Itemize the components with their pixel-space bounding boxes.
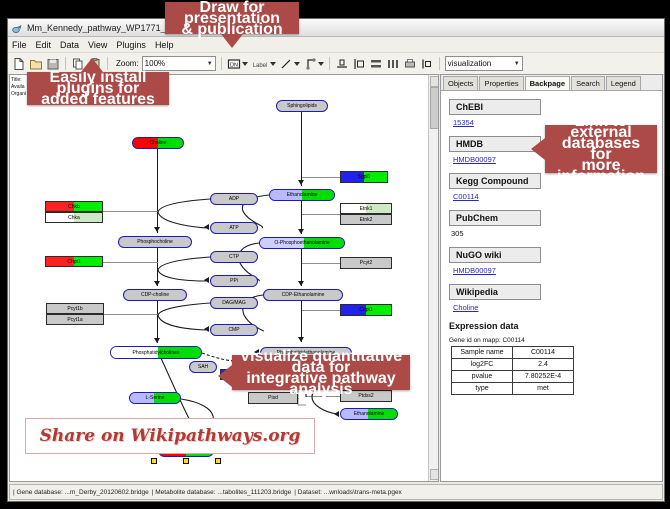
callout-share: Share on Wikipathways.org <box>25 418 315 454</box>
tab-legend[interactable]: Legend <box>606 76 641 90</box>
tab-objects[interactable]: Objects <box>443 76 478 90</box>
callout-plugins-text: Easily install plugins for added feature… <box>27 69 169 108</box>
callout-plugins: Easily install plugins for added feature… <box>27 72 169 105</box>
menu-edit[interactable]: Edit <box>36 40 52 50</box>
visualization-combo[interactable]: visualization ▼ <box>445 56 523 71</box>
db-section-title: Kegg Compound <box>449 173 541 189</box>
menu-help[interactable]: Help <box>155 40 174 50</box>
expression-row: pvalue7.80252E-4 <box>452 371 574 383</box>
callout-draw-line2: & publication <box>171 24 293 35</box>
chevron-down-icon: ▼ <box>207 61 213 67</box>
scroll-thumb[interactable] <box>430 87 439 129</box>
zoom-value: 100% <box>145 59 165 68</box>
visualization-value: visualization <box>448 59 492 68</box>
metabolite-node-cmp[interactable]: CMP <box>210 324 258 336</box>
gene-node-etnk2[interactable]: Etnk2 <box>340 214 392 225</box>
resize-handle[interactable] <box>215 458 221 464</box>
callout-links: Link to external databases for more info… <box>545 125 657 173</box>
metabolite-node-choline-top[interactable]: Choline <box>132 137 184 149</box>
callout-plugins-pointer <box>81 58 103 72</box>
chevron-down-icon[interactable] <box>242 62 248 66</box>
toolbar-separator <box>221 57 222 70</box>
line-tool[interactable] <box>279 57 300 71</box>
db-section-title: NuGO wiki <box>449 247 541 263</box>
db-section-link[interactable]: HMDB00097 <box>453 266 654 275</box>
callout-links-text: Link to external databases for more info… <box>545 113 657 185</box>
node-label: CDP-choline <box>141 292 169 298</box>
menu-file[interactable]: File <box>12 40 27 50</box>
screenshot-root: Mm_Kennedy_pathway_WP1771_45176.gpml Fil… <box>0 0 670 509</box>
metabolite-node-phosphocholine[interactable]: Phosphocholine <box>118 236 192 248</box>
title-bar: Mm_Kennedy_pathway_WP1771_45176.gpml <box>8 19 664 37</box>
node-label: PPi <box>230 278 238 284</box>
tab-search[interactable]: Search <box>571 76 605 90</box>
gene-node-chpt1[interactable]: Chpt1 <box>45 256 103 267</box>
node-label: L-Serine <box>146 395 165 401</box>
caption-title: Title: <box>11 77 26 84</box>
node-label: Cept1 <box>359 307 372 313</box>
distribute-icon[interactable] <box>386 57 400 71</box>
metabolite-node-sah[interactable]: SAH <box>189 361 217 373</box>
menu-data[interactable]: Data <box>60 40 79 50</box>
db-section-title: HMDB <box>449 136 541 152</box>
tab-backpage[interactable]: Backpage <box>525 76 570 90</box>
arrow-to-cmp <box>204 326 209 332</box>
gene-node-pcyt1a[interactable]: Pcyt1a <box>46 314 104 325</box>
metabolite-node-cdp-ethanol[interactable]: CDP-Ethanolamine <box>263 289 343 301</box>
node-label: Ethanolamine <box>354 411 385 417</box>
gene-node-pcyt1b[interactable]: Pcyt1b <box>46 303 104 314</box>
expression-data-table: Sample nameC00114log2FC2.4pvalue7.80252E… <box>451 346 574 395</box>
gene-id-line: Gene id on mapp: C00114 <box>449 337 654 344</box>
svg-text:Label: Label <box>252 63 267 69</box>
status-metabolite-database: | Metabolite database: ...tabolites_1112… <box>149 489 292 496</box>
callout-visualize: Visualize quantitative data for integrat… <box>232 355 410 390</box>
node-label: ADP <box>229 196 239 202</box>
layer-icon[interactable] <box>420 57 434 71</box>
node-label: CMP <box>228 327 239 333</box>
gene-node-sgpl1[interactable]: Sgpl1 <box>340 171 388 183</box>
resize-handle[interactable] <box>183 458 189 464</box>
scroll-down-arrow[interactable] <box>430 469 439 480</box>
callout-links-pointer <box>531 138 545 160</box>
expression-value: 7.80252E-4 <box>513 371 574 383</box>
status-gene-database: | Gene database: ...m_Derby_20120602.bri… <box>10 489 149 496</box>
callout-share-text: Share on Wikipathways.org <box>40 426 301 446</box>
db-section-value: 305 <box>451 229 654 238</box>
label-icon[interactable]: Label <box>251 57 269 71</box>
metabolite-node-dagmag[interactable]: DAG/MAG <box>210 297 258 309</box>
tab-properties[interactable]: Properties <box>479 76 523 90</box>
node-label: Chkb <box>68 204 80 210</box>
arrow-to-atp <box>204 224 209 230</box>
app-icon <box>12 22 23 33</box>
expression-key: pvalue <box>452 371 513 383</box>
metabolite-node-cdp-choline[interactable]: CDP-choline <box>123 289 187 301</box>
node-label: Sphingolipids <box>287 103 317 109</box>
metabolite-node-ethanolamine-t[interactable]: Ethanolamine <box>269 189 335 201</box>
gene-node-chkb[interactable]: Chkb <box>45 201 103 212</box>
menu-plugins[interactable]: Plugins <box>116 40 146 50</box>
node-label: Phosphocholine <box>137 239 173 245</box>
caption-availa: Availa <box>11 84 26 91</box>
node-label: O-Phosphoethanolamine <box>274 240 329 246</box>
order-icon[interactable] <box>369 57 383 71</box>
menu-bar: File Edit Data View Plugins Help <box>8 37 664 53</box>
metabolite-node-lserine-left[interactable]: L-Serine <box>129 392 181 404</box>
db-section-nugo-wiki: NuGO wikiHMDB00097 <box>449 245 654 275</box>
node-label: Etnk1 <box>360 206 373 212</box>
chevron-down-icon[interactable] <box>294 62 300 66</box>
chevron-down-icon[interactable] <box>318 62 324 66</box>
zoom-label: Zoom: <box>116 59 139 68</box>
metabolite-node-atp[interactable]: ATP <box>210 222 258 234</box>
gene-node-etnk1[interactable]: Etnk1 <box>340 203 392 214</box>
node-label: Phosphatidylcholines <box>133 350 180 356</box>
metabolite-node-ppi[interactable]: PPi <box>210 275 258 287</box>
gene-node-cept1[interactable]: Cept1 <box>340 304 392 316</box>
node-label: SAH <box>198 364 208 370</box>
group-icon[interactable] <box>352 57 366 71</box>
metabolite-node-sphingolipids[interactable]: Sphingolipids <box>276 100 328 112</box>
callout-visualize-line2: integrative pathway analysis <box>238 373 404 395</box>
metabolite-node-o-phosphoetn[interactable]: O-Phosphoethanolamine <box>259 237 345 249</box>
new-icon[interactable] <box>12 57 26 71</box>
arrow-to-ppi <box>204 277 209 283</box>
metabolite-node-ctp[interactable]: CTP <box>210 251 258 263</box>
metabolite-node-adp[interactable]: ADP <box>210 193 258 205</box>
canvas-vertical-scrollbar[interactable] <box>428 75 438 481</box>
callout-visualize-text: Visualize quantitative data for integrat… <box>232 348 410 398</box>
node-label: Choline <box>150 140 167 146</box>
callout-draw: Draw for presentation & publication <box>165 2 299 34</box>
svg-text:DN: DN <box>230 62 238 68</box>
expression-value: 2.4 <box>513 359 574 371</box>
metabolite-node-ptdcholines[interactable]: Phosphatidylcholines <box>110 346 202 359</box>
callout-links-line3: more information <box>551 160 651 182</box>
gene-node-pcyt2[interactable]: Pcyt2 <box>340 257 392 269</box>
callout-plugins-line2: added features <box>33 94 163 105</box>
side-panel-tabs: Objects Properties Backpage Search Legen… <box>441 75 662 91</box>
scroll-up-arrow[interactable] <box>430 76 439 87</box>
datanode-tool[interactable]: DN <box>227 57 248 71</box>
expression-row: Sample nameC00114 <box>452 347 574 359</box>
node-label: Pcyt1a <box>67 317 82 323</box>
db-section-title: ChEBI <box>449 99 541 115</box>
node-label: Ethanolamine <box>287 192 318 198</box>
expression-value: met <box>513 383 574 395</box>
node-label: CDP-Ethanolamine <box>282 292 325 298</box>
expression-key: Sample name <box>452 347 513 359</box>
db-section-link[interactable]: C00114 <box>453 192 654 201</box>
canvas-side-captions: Title: Availa Organi <box>11 77 26 98</box>
db-section-link[interactable]: Choline <box>453 303 654 312</box>
line-icon[interactable] <box>279 57 293 71</box>
db-section-title: PubChem <box>449 210 541 226</box>
toolbar-separator <box>329 57 330 70</box>
caption-organism: Organi <box>11 91 26 98</box>
expression-row: log2FC2.4 <box>452 359 574 371</box>
label-tool[interactable]: Label <box>251 57 276 71</box>
node-label: DAG/MAG <box>222 300 246 306</box>
metabolite-node-ethanolamine-b[interactable]: Ethanolamine <box>340 408 398 420</box>
anchor-icon[interactable] <box>303 57 317 71</box>
anchor-tool[interactable] <box>303 57 324 71</box>
callout-draw-pointer <box>221 34 243 48</box>
node-label: Pcyt1b <box>67 306 82 312</box>
expression-key: log2FC <box>452 359 513 371</box>
node-label: Chpt1 <box>67 259 80 265</box>
resize-handle[interactable] <box>151 458 157 464</box>
node-label: Chka <box>68 215 80 221</box>
align-icon[interactable] <box>335 57 349 71</box>
expression-key: type <box>452 383 513 395</box>
status-bar: | Gene database: ...m_Derby_20120602.bri… <box>9 484 663 500</box>
db-section-title: Wikipedia <box>449 284 541 300</box>
chevron-down-icon[interactable] <box>270 62 276 66</box>
menu-view[interactable]: View <box>88 40 107 50</box>
expression-value: C00114 <box>513 347 574 359</box>
status-dataset: | Dataset: ...wnloads\trans-meta.pgex <box>291 489 402 496</box>
node-label: Sgpl1 <box>358 174 371 180</box>
expression-row: typemet <box>452 383 574 395</box>
print-icon[interactable] <box>403 57 417 71</box>
node-label: Etnk2 <box>360 217 373 223</box>
node-label: ATP <box>229 225 238 231</box>
node-label: Pcyt2 <box>360 260 373 266</box>
expression-data-heading: Expression data <box>449 321 654 331</box>
arrow-to-ethanolamine-bottom <box>334 411 339 417</box>
db-section-pubchem: PubChem305 <box>449 208 654 238</box>
chevron-down-icon: ▼ <box>514 61 520 67</box>
callout-draw-text: Draw for presentation & publication <box>165 0 299 38</box>
callout-visualize-pointer <box>218 365 232 387</box>
db-section-wikipedia: WikipediaCholine <box>449 282 654 312</box>
node-label: CTP <box>229 254 239 260</box>
datanode-icon[interactable]: DN <box>227 57 241 71</box>
gene-node-chka[interactable]: Chka <box>45 212 103 223</box>
toolbar-separator <box>439 57 440 70</box>
